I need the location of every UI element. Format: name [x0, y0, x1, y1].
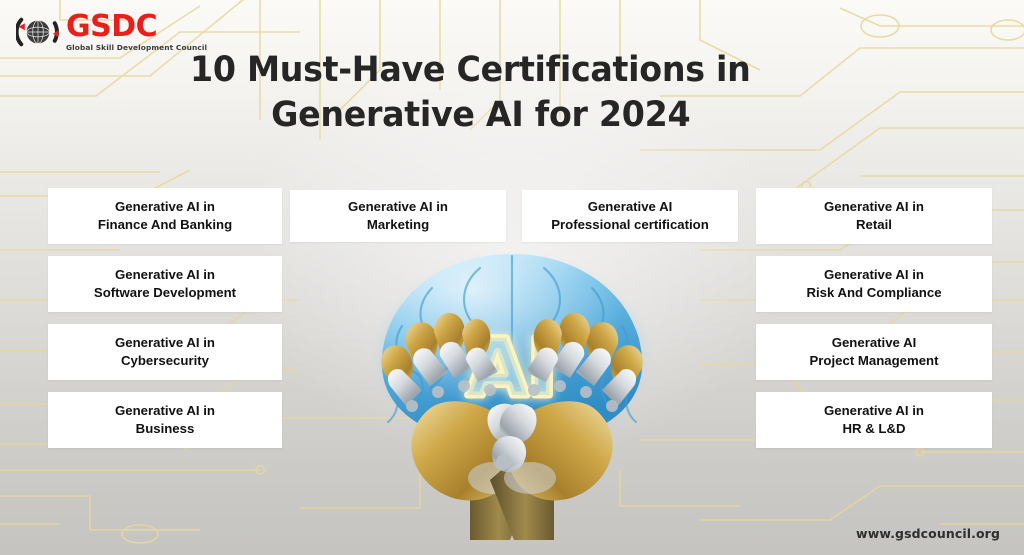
card-line-1: Generative AI — [551, 198, 709, 216]
card-line-2: Software Development — [94, 284, 236, 302]
card-line-1: Generative AI in — [115, 334, 215, 352]
title-line-2: Generative AI for 2024 — [190, 93, 771, 138]
card-line-1: Generative AI in — [806, 266, 941, 284]
ai-brain-artwork: AI AI — [282, 240, 742, 555]
website-url[interactable]: www.gsdcouncil.org — [856, 526, 1000, 541]
card-software-development[interactable]: Generative AI in Software Development — [48, 256, 282, 312]
card-professional-certification[interactable]: Generative AI Professional certification — [522, 190, 738, 242]
card-line-2: Professional certification — [551, 216, 709, 234]
card-line-1: Generative AI in — [94, 266, 236, 284]
page-title: 10 Must-Have Certifications in Generativ… — [190, 48, 855, 138]
card-finance-and-banking[interactable]: Generative AI in Finance And Banking — [48, 188, 282, 244]
card-line-2: Cybersecurity — [115, 352, 215, 370]
card-line-1: Generative AI in — [98, 198, 232, 216]
card-line-1: Generative AI — [810, 334, 939, 352]
card-risk-and-compliance[interactable]: Generative AI in Risk And Compliance — [756, 256, 992, 312]
brand-logo[interactable]: GSDC Global Skill Development Council — [16, 10, 207, 54]
card-cybersecurity[interactable]: Generative AI in Cybersecurity — [48, 324, 282, 380]
card-line-2: HR & L&D — [824, 420, 924, 438]
card-line-2: Project Management — [810, 352, 939, 370]
logo-wordmark: GSDC — [66, 12, 207, 42]
card-line-2: Finance And Banking — [98, 216, 232, 234]
logo-tagline: Global Skill Development Council — [66, 44, 207, 51]
card-business[interactable]: Generative AI in Business — [48, 392, 282, 448]
card-marketing[interactable]: Generative AI in Marketing — [290, 190, 506, 242]
card-line-2: Retail — [824, 216, 924, 234]
card-hr-and-ld[interactable]: Generative AI in HR & L&D — [756, 392, 992, 448]
card-line-2: Business — [115, 420, 215, 438]
card-project-management[interactable]: Generative AI Project Management — [756, 324, 992, 380]
title-line-1: 10 Must-Have Certifications in — [190, 50, 751, 90]
card-line-1: Generative AI in — [348, 198, 448, 216]
globe-icon — [16, 10, 60, 54]
card-line-1: Generative AI in — [824, 402, 924, 420]
card-line-2: Risk And Compliance — [806, 284, 941, 302]
card-line-1: Generative AI in — [824, 198, 924, 216]
infographic-canvas: GSDC Global Skill Development Council 10… — [0, 0, 1024, 555]
card-line-2: Marketing — [348, 216, 448, 234]
card-retail[interactable]: Generative AI in Retail — [756, 188, 992, 244]
card-line-1: Generative AI in — [115, 402, 215, 420]
